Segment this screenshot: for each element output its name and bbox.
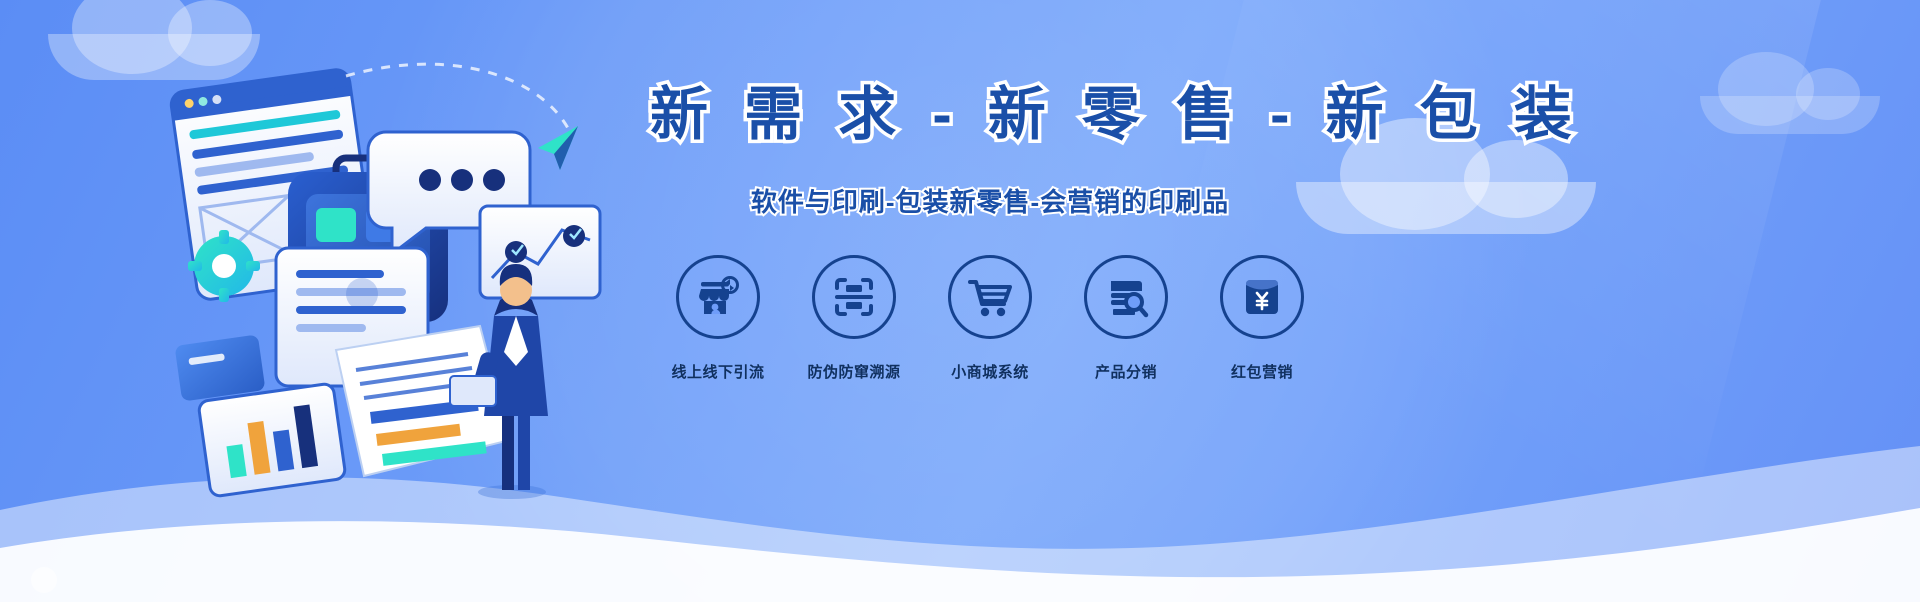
red-envelope-yen-icon xyxy=(1240,274,1284,320)
shopping-cart-icon xyxy=(966,274,1014,320)
feature-list: 线上线下引流 防伪防窜溯 xyxy=(640,255,1340,382)
illustration-svg xyxy=(150,40,650,510)
feature-item-distribution[interactable]: 产品分销 xyxy=(1074,255,1178,382)
feature-icon-circle xyxy=(1084,255,1168,339)
banner-headline: 新 需 求 - 新 零 售 - 新 包 装 xyxy=(640,86,1340,144)
promo-banner: 新 需 求 - 新 零 售 - 新 包 装 软件与印刷-包装新零售-会营销的印刷… xyxy=(0,0,1920,602)
smartphone xyxy=(175,334,266,401)
feature-item-anti-counterfeit[interactable]: 防伪防窜溯源 xyxy=(802,255,906,382)
shop-refresh-icon xyxy=(695,274,741,320)
feature-label: 红包营销 xyxy=(1231,361,1293,382)
tablet-device xyxy=(198,383,346,497)
feature-label: 线上线下引流 xyxy=(671,361,764,382)
feature-label: 产品分销 xyxy=(1095,361,1157,382)
feature-item-mini-mall[interactable]: 小商城系统 xyxy=(938,255,1042,382)
feature-item-red-envelope[interactable]: 红包营销 xyxy=(1210,255,1314,382)
feature-icon-circle xyxy=(676,255,760,339)
feature-icon-circle xyxy=(948,255,1032,339)
banner-content: 新 需 求 - 新 零 售 - 新 包 装 软件与印刷-包装新零售-会营销的印刷… xyxy=(640,86,1340,382)
cloud-icon xyxy=(1296,182,1596,234)
feature-icon-circle xyxy=(812,255,896,339)
feature-item-online-offline[interactable]: 线上线下引流 xyxy=(666,255,770,382)
feature-icon-circle xyxy=(1220,255,1304,339)
digital-printing-illustration xyxy=(150,40,650,510)
feature-label: 防伪防窜溯源 xyxy=(807,361,900,382)
document-search-icon xyxy=(1103,274,1149,320)
chart-card xyxy=(480,206,600,298)
barcode-scan-icon xyxy=(831,274,877,320)
banner-subline: 软件与印刷-包装新零售-会营销的印刷品 xyxy=(640,182,1340,219)
feature-label: 小商城系统 xyxy=(951,361,1029,382)
cloud-icon xyxy=(1700,96,1880,134)
